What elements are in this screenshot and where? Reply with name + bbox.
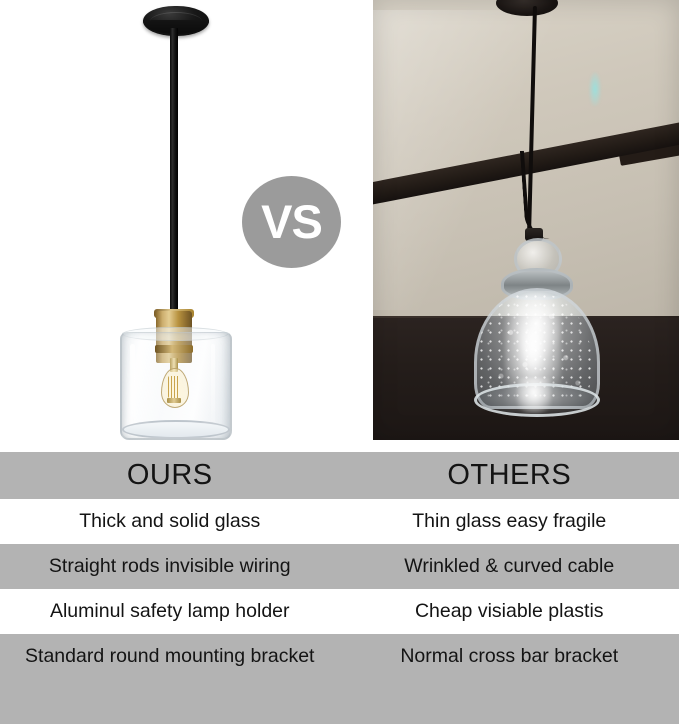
glass-highlight-right <box>211 344 215 424</box>
table-header-row: OURS OTHERS <box>0 452 679 499</box>
ours-feature-cell: Thick and solid glass <box>0 499 340 544</box>
others-product-image <box>373 0 679 440</box>
others-feature-cell: Cheap visiable plastis <box>340 589 679 634</box>
table-row: Straight rods invisible wiring Wrinkled … <box>0 544 679 589</box>
others-feature-cell: Thin glass easy fragile <box>340 499 679 544</box>
feature-comparison-table: OURS OTHERS Thick and solid glass Thin g… <box>0 452 679 679</box>
others-feature-cell: Normal cross bar bracket <box>340 634 679 679</box>
vs-badge-label: VS <box>261 198 322 245</box>
others-feature-cell: Wrinkled & curved cable <box>340 544 679 589</box>
table-row: Thick and solid glass Thin glass easy fr… <box>0 499 679 544</box>
comparison-hero: VS <box>0 0 679 448</box>
ours-feature-cell: Aluminul safety lamp holder <box>0 589 340 634</box>
teal-reflection-icon <box>589 72 601 106</box>
brass-socket-ring <box>155 345 193 353</box>
table-bottom-fill <box>0 679 679 724</box>
bulb-filament <box>168 376 180 398</box>
column-header-ours: OURS <box>0 452 340 499</box>
column-header-others: OTHERS <box>340 452 679 499</box>
table-row: Standard round mounting bracket Normal c… <box>0 634 679 679</box>
table-row: Aluminul safety lamp holder Cheap visiab… <box>0 589 679 634</box>
glass-highlight-left <box>130 344 135 426</box>
glass-shade-rim <box>122 420 230 439</box>
ours-feature-cell: Straight rods invisible wiring <box>0 544 340 589</box>
ours-feature-cell: Standard round mounting bracket <box>0 634 340 679</box>
straight-downrod <box>170 28 178 317</box>
bulb-bottom-flare <box>517 378 551 414</box>
vs-badge: VS <box>242 176 341 268</box>
bulb-base <box>167 398 181 403</box>
